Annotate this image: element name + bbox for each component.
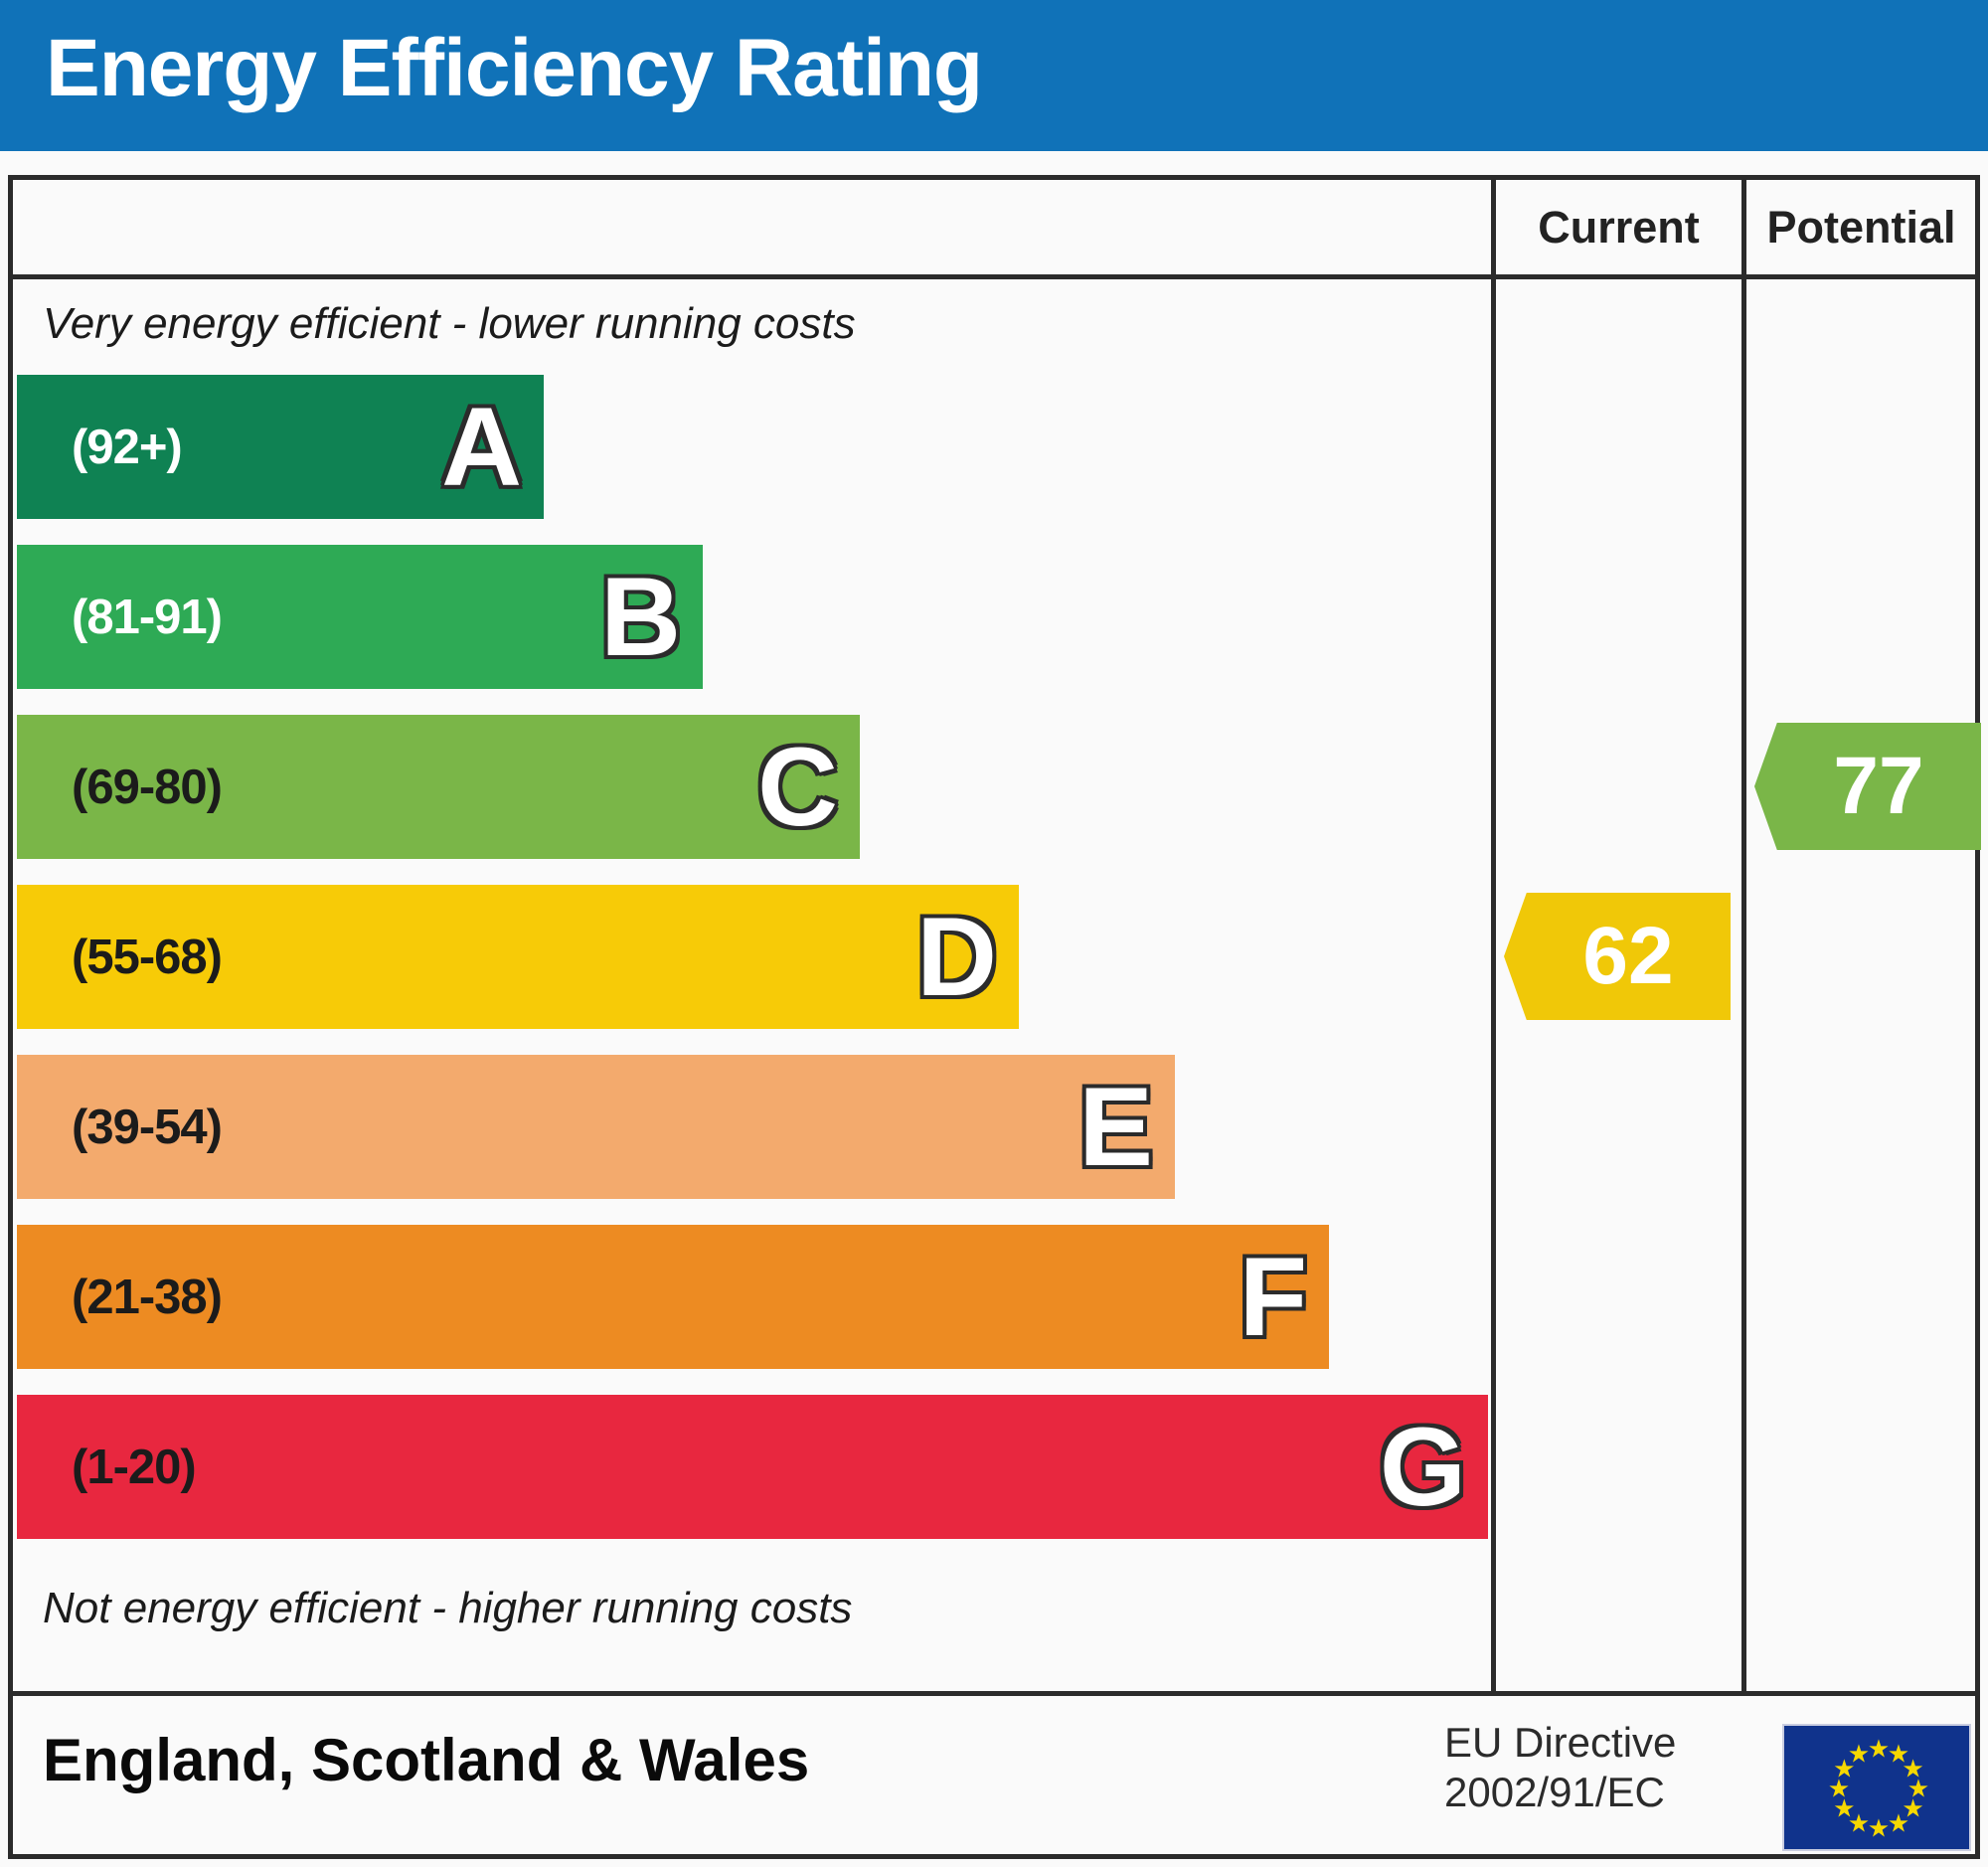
- band-row-b: (81-91)B: [17, 545, 703, 689]
- band-letter-a: A: [441, 392, 522, 503]
- energy-efficiency-certificate: Energy Efficiency Rating Current Potenti…: [0, 0, 1988, 1867]
- band-range-b: (81-91): [72, 590, 222, 645]
- current-rating-value: 62: [1582, 910, 1673, 1003]
- eu-star: ★: [1868, 1817, 1890, 1842]
- footer-region-label: England, Scotland & Wales: [43, 1726, 809, 1794]
- potential-rating-arrow: 77: [1754, 723, 1981, 850]
- eu-star: ★: [1848, 1743, 1870, 1768]
- band-range-g: (1-20): [72, 1440, 196, 1495]
- band-range-e: (39-54): [72, 1100, 222, 1155]
- page-title: Energy Efficiency Rating: [46, 22, 982, 115]
- column-divider-right: [1741, 180, 1746, 1691]
- band-range-d: (55-68): [72, 930, 222, 985]
- note-not-efficient: Not energy efficient - higher running co…: [43, 1584, 852, 1633]
- current-rating-arrow: 62: [1504, 893, 1731, 1020]
- band-range-c: (69-80): [72, 760, 222, 815]
- band-row-e: (39-54)E: [17, 1055, 1175, 1199]
- band-letter-g: G: [1380, 1412, 1466, 1523]
- band-range-f: (21-38): [72, 1270, 222, 1325]
- band-row-a: (92+)A: [17, 375, 544, 519]
- band-row-g: (1-20)G: [17, 1395, 1488, 1539]
- table-header-row: Current Potential: [13, 180, 1975, 279]
- potential-rating-value: 77: [1833, 740, 1923, 833]
- band-row-c: (69-80)C: [17, 715, 860, 859]
- band-range-a: (92+): [72, 420, 182, 475]
- footer-directive-line2: 2002/91/EC: [1444, 1768, 1676, 1817]
- footer: England, Scotland & Wales EU Directive 2…: [8, 1696, 1980, 1859]
- footer-directive: EU Directive 2002/91/EC: [1444, 1718, 1676, 1816]
- band-list: (92+)A(81-91)B(69-80)C(55-68)D(39-54)E(2…: [13, 375, 1491, 1568]
- band-letter-b: B: [600, 562, 681, 673]
- column-header-current: Current: [1496, 180, 1741, 274]
- band-row-d: (55-68)D: [17, 885, 1019, 1029]
- band-letter-e: E: [1078, 1072, 1153, 1183]
- eu-star: ★: [1888, 1811, 1909, 1836]
- band-row-f: (21-38)F: [17, 1225, 1329, 1369]
- title-bar: Energy Efficiency Rating: [0, 0, 1988, 151]
- note-very-efficient: Very energy efficient - lower running co…: [43, 299, 856, 349]
- rating-table: Current Potential Very energy efficient …: [8, 175, 1980, 1696]
- band-letter-f: F: [1240, 1242, 1307, 1353]
- band-letter-c: C: [757, 732, 838, 843]
- bands-column: Very energy efficient - lower running co…: [13, 279, 1491, 1691]
- footer-directive-line1: EU Directive: [1444, 1718, 1676, 1768]
- eu-flag-icon: ★★★★★★★★★★★★: [1782, 1724, 1971, 1851]
- column-divider-left: [1491, 180, 1496, 1691]
- band-letter-d: D: [916, 902, 997, 1013]
- column-header-potential: Potential: [1746, 180, 1976, 274]
